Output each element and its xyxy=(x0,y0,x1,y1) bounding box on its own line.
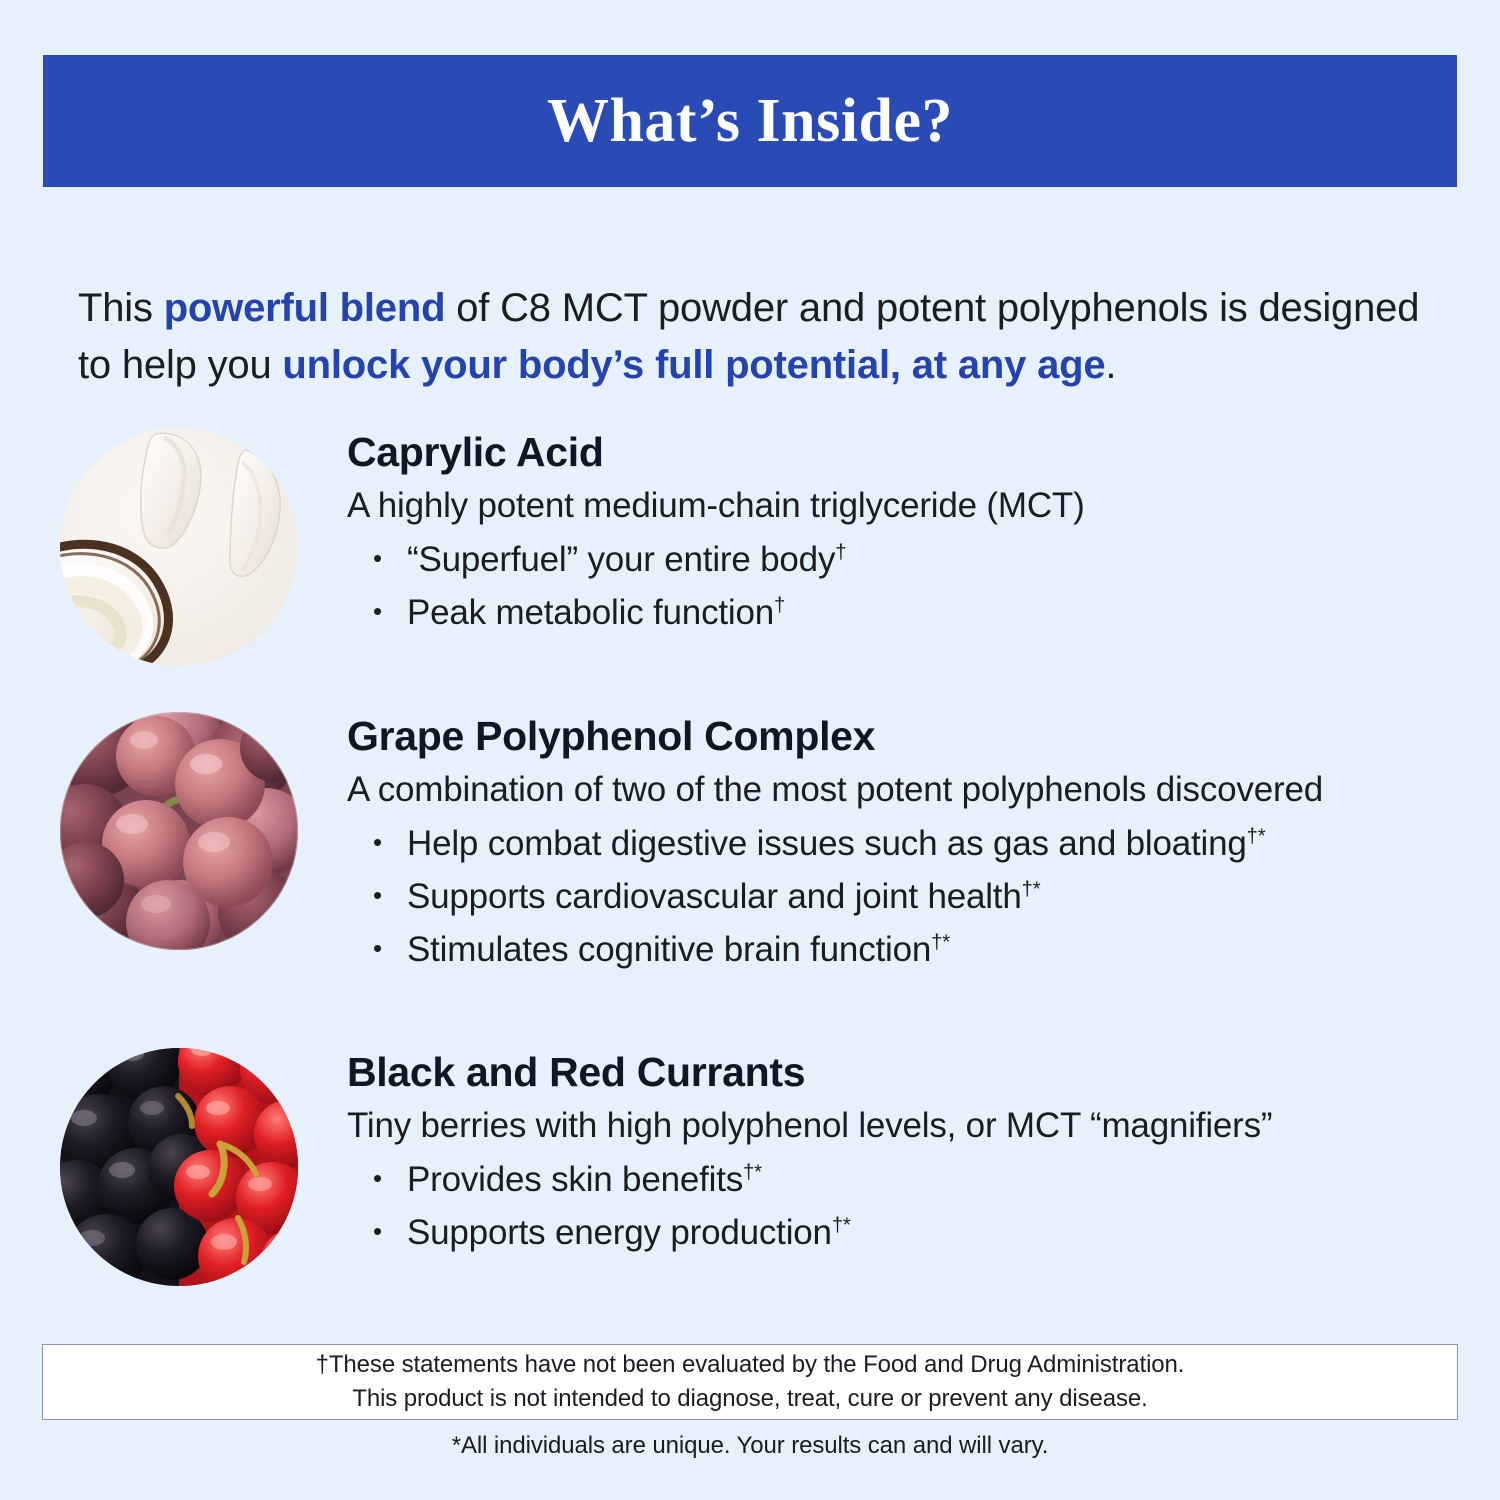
header-banner: What’s Inside? xyxy=(43,55,1457,187)
footnote-mark: † xyxy=(835,541,846,563)
fda-disclaimer-line-1: †These statements have not been evaluate… xyxy=(316,1348,1185,1382)
ingredient-title: Caprylic Acid xyxy=(347,430,1460,476)
ingredient-block-grape-polyphenol-complex: Grape Polyphenol Complex A combination o… xyxy=(60,712,1460,976)
intro-accent-2: unlock your body’s full potential, at an… xyxy=(282,343,1105,387)
ingredient-block-black-and-red-currants: Black and Red Currants Tiny berries with… xyxy=(60,1048,1460,1286)
ingredient-subtitle: A combination of two of the most potent … xyxy=(347,769,1460,811)
footnote-mark: †* xyxy=(832,1214,851,1236)
grapes-photo xyxy=(60,712,298,950)
ingredient-benefit-list: Help combat digestive issues such as gas… xyxy=(347,817,1460,977)
intro-paragraph: This powerful blend of C8 MCT powder and… xyxy=(78,280,1428,394)
fda-disclaimer-line-2: This product is not intended to diagnose… xyxy=(352,1382,1147,1416)
list-item: Stimulates cognitive brain function†* xyxy=(347,923,1460,976)
ingredient-benefit-list: Provides skin benefits†* Supports energy… xyxy=(347,1153,1460,1259)
intro-text-3: . xyxy=(1105,343,1116,387)
ingredient-title: Grape Polyphenol Complex xyxy=(347,714,1460,760)
intro-text-1: This xyxy=(78,286,164,330)
benefit-text: “Superfuel” your entire body xyxy=(407,540,835,579)
coconut-photo xyxy=(60,428,298,666)
benefit-text: Help combat digestive issues such as gas… xyxy=(407,824,1247,863)
ingredient-benefit-list: “Superfuel” your entire body† Peak metab… xyxy=(347,533,1460,639)
ingredient-text-caprylic-acid: Caprylic Acid A highly potent medium-cha… xyxy=(298,428,1460,639)
ingredient-subtitle: A highly potent medium-chain triglycerid… xyxy=(347,485,1460,527)
list-item: Help combat digestive issues such as gas… xyxy=(347,817,1460,870)
fda-disclaimer-box: †These statements have not been evaluate… xyxy=(42,1344,1458,1420)
ingredient-text-black-and-red-currants: Black and Red Currants Tiny berries with… xyxy=(298,1048,1460,1259)
infographic-page: What’s Inside? This powerful blend of C8… xyxy=(0,0,1500,1500)
footnote-mark: †* xyxy=(1022,878,1041,900)
list-item: Provides skin benefits†* xyxy=(347,1153,1460,1206)
list-item: “Superfuel” your entire body† xyxy=(347,533,1460,586)
intro-accent-1: powerful blend xyxy=(164,286,446,330)
list-item: Supports energy production†* xyxy=(347,1206,1460,1259)
benefit-text: Stimulates cognitive brain function xyxy=(407,930,931,969)
ingredient-block-caprylic-acid: Caprylic Acid A highly potent medium-cha… xyxy=(60,428,1460,666)
benefit-text: Supports cardiovascular and joint health xyxy=(407,877,1022,916)
footnote-mark: †* xyxy=(743,1161,762,1183)
benefit-text: Provides skin benefits xyxy=(407,1160,743,1199)
footnote-mark: †* xyxy=(931,932,950,954)
benefit-text: Peak metabolic function xyxy=(407,593,774,632)
list-item: Supports cardiovascular and joint health… xyxy=(347,870,1460,923)
page-title: What’s Inside? xyxy=(547,90,953,152)
ingredient-title: Black and Red Currants xyxy=(347,1050,1460,1096)
benefit-text: Supports energy production xyxy=(407,1213,832,1252)
ingredient-subtitle: Tiny berries with high polyphenol levels… xyxy=(347,1105,1460,1147)
footnote-mark: † xyxy=(774,594,785,616)
results-variability-note: *All individuals are unique. Your result… xyxy=(0,1432,1500,1460)
currants-photo xyxy=(60,1048,298,1286)
footnote-mark: †* xyxy=(1247,825,1266,847)
list-item: Peak metabolic function† xyxy=(347,586,1460,639)
ingredient-text-grape-polyphenol-complex: Grape Polyphenol Complex A combination o… xyxy=(298,712,1460,976)
